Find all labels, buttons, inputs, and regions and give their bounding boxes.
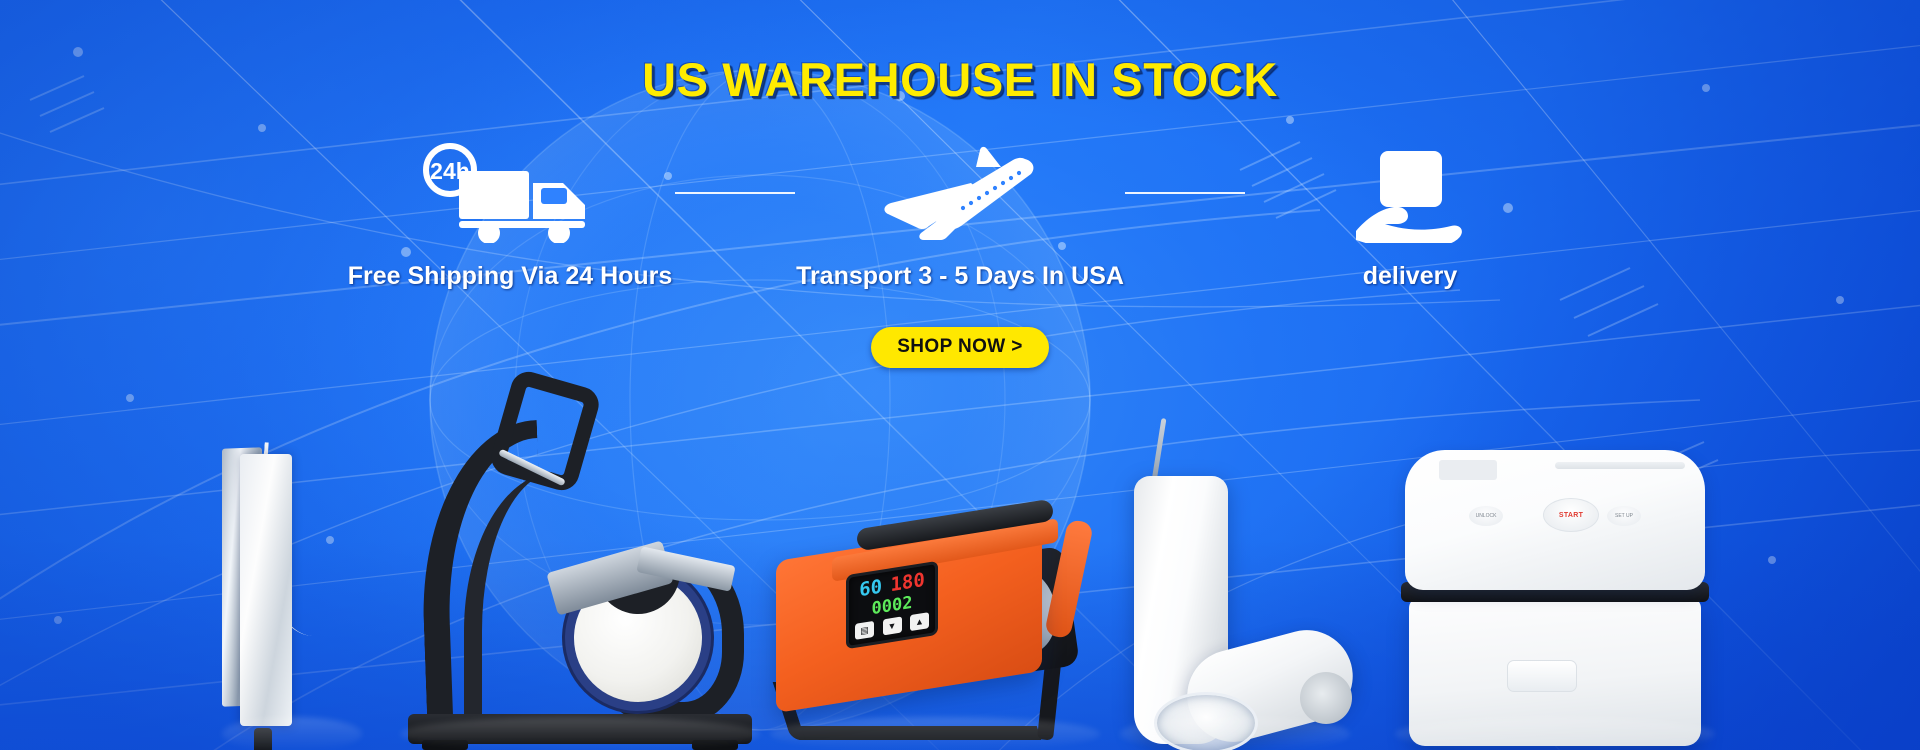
banner-headline: US WAREHOUSE IN STOCK <box>0 52 1920 107</box>
product-orange-mug-press[interactable]: 60 180 0002 ▤ ▼ ▲ <box>770 450 1100 750</box>
feature-caption: Free Shipping Via 24 Hours <box>348 262 673 291</box>
appliance-start-label: START <box>1559 512 1583 519</box>
lcd-current-temp: 60 <box>859 578 882 601</box>
feature-delivery: delivery <box>1245 140 1575 291</box>
plate-white-pad <box>240 454 292 726</box>
promo-banner: US WAREHOUSE IN STOCK 24h <box>0 0 1920 750</box>
appliance-setup-button[interactable]: SET UP <box>1607 506 1641 526</box>
lcd-set-temp: 180 <box>890 571 924 595</box>
press-reflection <box>400 717 760 750</box>
hand-package-icon <box>1350 140 1470 246</box>
appliance-start-button[interactable]: START <box>1543 498 1599 532</box>
tumbler-reflection <box>1120 717 1350 750</box>
appliance-vent-slot <box>1555 462 1685 469</box>
product-showcase: 60 180 0002 ▤ ▼ ▲ <box>0 330 1920 750</box>
feature-free-shipping: 24h Free Shipping Via 24 Hours <box>345 140 675 291</box>
appliance-front-latch[interactable] <box>1507 660 1577 692</box>
lcd-menu-button[interactable]: ▤ <box>855 621 874 640</box>
connector-line-1 <box>675 140 795 246</box>
feature-transport-time: Transport 3 - 5 Days In USA <box>795 140 1125 291</box>
product-black-mug-press[interactable] <box>400 380 760 750</box>
hand-package-icon-svg <box>1350 143 1470 243</box>
lcd-down-button[interactable]: ▼ <box>883 616 902 635</box>
feature-row: 24h Free Shipping Via 24 Hours <box>0 140 1920 291</box>
lcd-up-button[interactable]: ▲ <box>910 612 929 631</box>
truck-icon-svg: 24h <box>415 143 605 243</box>
product-flat-heating-plate[interactable] <box>222 450 362 750</box>
feature-caption: Transport 3 - 5 Days In USA <box>796 262 1124 291</box>
product-sublimation-tumblers[interactable] <box>1120 440 1350 750</box>
appliance-unlock-button[interactable]: UNLOCK <box>1469 506 1503 526</box>
airplane-icon <box>875 140 1045 246</box>
plate-reflection <box>222 717 362 750</box>
orange-press-reflection <box>770 717 1100 750</box>
product-white-appliance[interactable]: UNLOCK START SET UP <box>1395 450 1715 750</box>
feature-caption: delivery <box>1363 262 1458 291</box>
airplane-icon-svg <box>875 143 1045 243</box>
appliance-lid: UNLOCK START SET UP <box>1405 450 1705 590</box>
connector-line-2 <box>1125 140 1245 246</box>
appliance-warning-label <box>1439 460 1497 480</box>
delivery-truck-24h-icon: 24h <box>415 140 605 246</box>
orange-press-control-display[interactable]: 60 180 0002 ▤ ▼ ▲ <box>846 561 938 650</box>
appliance-reflection <box>1395 717 1715 750</box>
